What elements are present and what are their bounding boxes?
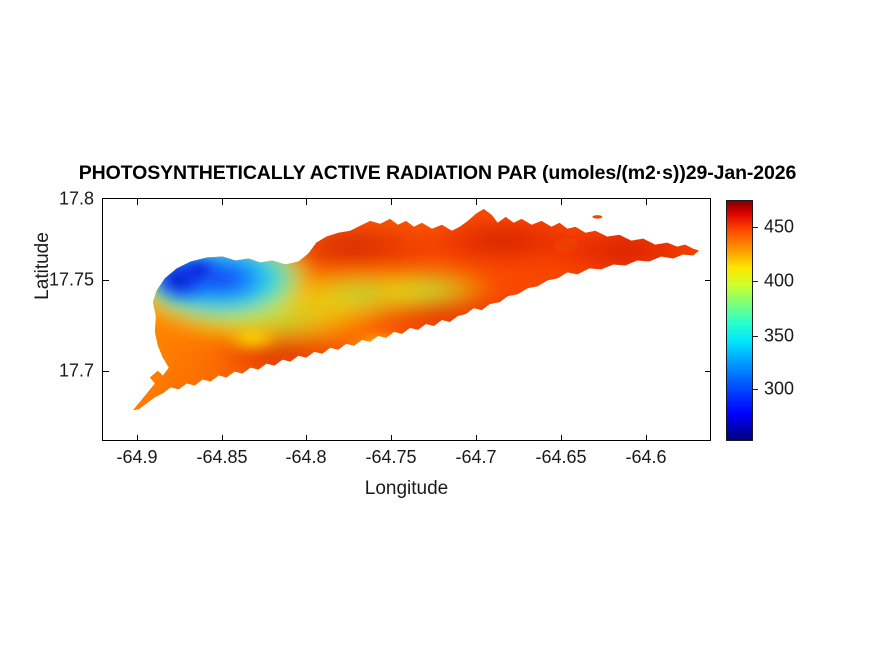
xtick-label: -64.9 bbox=[116, 447, 157, 468]
xtick-mark bbox=[561, 435, 562, 441]
ytick-mark-right bbox=[705, 280, 711, 281]
colorbar-tick bbox=[753, 336, 758, 337]
island-field bbox=[103, 199, 710, 440]
y-axis-title: Latitude bbox=[32, 201, 54, 331]
ytick-mark-right bbox=[705, 371, 711, 372]
map-axes bbox=[102, 198, 711, 441]
xtick-mark bbox=[222, 435, 223, 441]
chart-title: PHOTOSYNTHETICALLY ACTIVE RADIATION PAR … bbox=[0, 162, 875, 185]
colorbar-tick bbox=[753, 227, 758, 228]
xtick-label: -64.8 bbox=[285, 447, 326, 468]
xtick-mark-top bbox=[561, 199, 562, 205]
par-raster-svg bbox=[103, 199, 710, 440]
xtick-label: -64.75 bbox=[365, 447, 416, 468]
detached-islet bbox=[592, 215, 602, 219]
xtick-mark bbox=[137, 435, 138, 441]
colorbar bbox=[726, 200, 753, 441]
colorbar-label: 400 bbox=[764, 271, 794, 292]
xtick-mark-top bbox=[476, 199, 477, 205]
ytick-label: 17.7 bbox=[34, 361, 94, 382]
xtick-mark bbox=[476, 435, 477, 441]
xtick-mark-top bbox=[222, 199, 223, 205]
xtick-mark-top bbox=[391, 199, 392, 205]
x-axis-title: Longitude bbox=[102, 478, 711, 500]
colorbar-tick bbox=[753, 389, 758, 390]
colorbar-label: 350 bbox=[764, 326, 794, 347]
xtick-label: -64.7 bbox=[455, 447, 496, 468]
figure-canvas: PHOTOSYNTHETICALLY ACTIVE RADIATION PAR … bbox=[0, 0, 875, 656]
colorbar-label: 300 bbox=[764, 379, 794, 400]
xtick-mark-top bbox=[646, 199, 647, 205]
ytick-mark bbox=[103, 280, 109, 281]
colorbar-label: 450 bbox=[764, 217, 794, 238]
xtick-label: -64.6 bbox=[625, 447, 666, 468]
xtick-mark-top bbox=[137, 199, 138, 205]
xtick-label: -64.85 bbox=[196, 447, 247, 468]
xtick-mark bbox=[306, 435, 307, 441]
xtick-mark-top bbox=[306, 199, 307, 205]
ytick-mark bbox=[103, 371, 109, 372]
xtick-mark bbox=[391, 435, 392, 441]
xtick-label: -64.65 bbox=[535, 447, 586, 468]
xtick-mark bbox=[646, 435, 647, 441]
colorbar-tick bbox=[753, 281, 758, 282]
par-heatmap bbox=[103, 199, 710, 440]
